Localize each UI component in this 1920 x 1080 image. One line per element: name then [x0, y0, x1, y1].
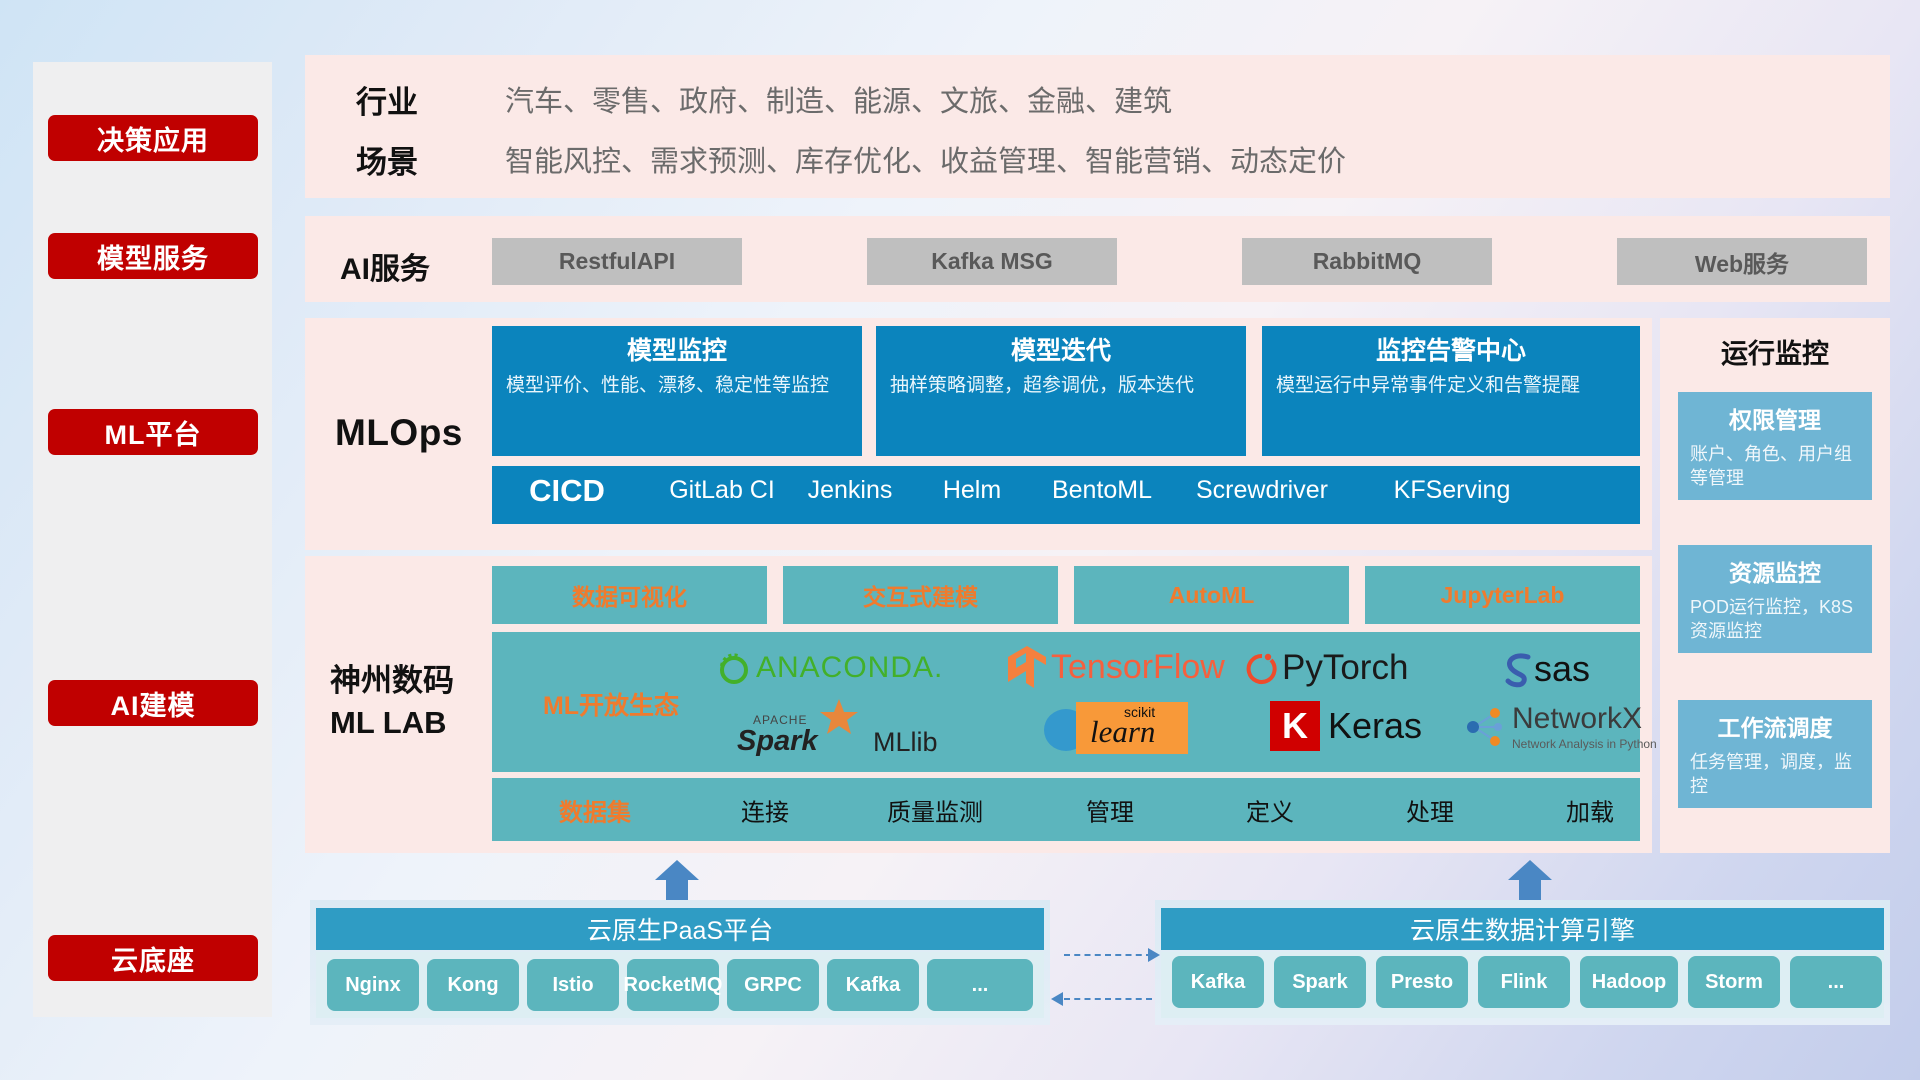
dataset-key-label: 数据集 — [500, 792, 690, 827]
ai-service-item-restfulapi[interactable]: RestfulAPI — [492, 238, 742, 285]
monitoring-title: 运行监控 — [1660, 332, 1890, 371]
networkx-wordmark: NetworkX — [1512, 704, 1657, 734]
networkx-sub-label: Network Analysis in Python — [1512, 737, 1657, 751]
tensorflow-logo: TensorFlow — [1006, 644, 1225, 690]
pytorch-logo: PyTorch — [1245, 646, 1408, 690]
monitoring-box-desc: 账户、角色、用户组等管理 — [1690, 442, 1860, 491]
connector-line-right — [1064, 954, 1152, 956]
monitoring-box-permissions[interactable]: 权限管理 账户、角色、用户组等管理 — [1678, 392, 1872, 500]
mlops-card-desc: 抽样策略调整，超参调优，版本迭代 — [890, 373, 1232, 399]
paas-chip-nginx[interactable]: Nginx — [327, 959, 419, 1011]
dataset-item-loading[interactable]: 加载 — [1510, 792, 1670, 827]
engine-chip-kafka[interactable]: Kafka — [1172, 956, 1264, 1008]
engine-chip-more[interactable]: ... — [1790, 956, 1882, 1008]
ml-ecosystem-label: ML开放生态 — [521, 686, 701, 722]
cicd-tool-kfserving[interactable]: KFServing — [1372, 476, 1532, 505]
pytorch-wordmark: PyTorch — [1282, 648, 1408, 688]
scikit-bottom-label: learn — [1090, 714, 1155, 750]
cicd-tool-screwdriver[interactable]: Screwdriver — [1182, 476, 1342, 505]
monitoring-box-title: 资源监控 — [1690, 554, 1860, 588]
networkx-graph-icon — [1464, 704, 1508, 750]
dataset-item-definition[interactable]: 定义 — [1190, 792, 1350, 827]
ai-service-item-kafka-msg[interactable]: Kafka MSG — [867, 238, 1117, 285]
keras-mark-icon: K — [1270, 701, 1320, 751]
sas-wordmark: sas — [1534, 648, 1590, 690]
mlops-card-model-monitoring[interactable]: 模型监控 模型评价、性能、漂移、稳定性等监控 — [492, 326, 862, 456]
mlops-card-model-iteration[interactable]: 模型迭代 抽样策略调整，超参调优，版本迭代 — [876, 326, 1246, 456]
sas-icon — [1500, 650, 1536, 688]
connector-arrow-right — [1148, 948, 1160, 962]
keras-logo: K Keras — [1270, 700, 1422, 752]
keras-wordmark: Keras — [1328, 705, 1422, 747]
ai-service-item-rabbitmq[interactable]: RabbitMQ — [1242, 238, 1492, 285]
paas-chip-more[interactable]: ... — [927, 959, 1033, 1011]
paas-chip-kafka[interactable]: Kafka — [827, 959, 919, 1011]
ml-lab-tile-jupyterlab[interactable]: JupyterLab — [1365, 566, 1640, 624]
diagram-canvas: 决策应用 模型服务 ML平台 AI建模 云底座 行业 汽车、零售、政府、制造、能… — [0, 0, 1920, 1080]
keras-mark-letter: K — [1282, 705, 1308, 747]
mlops-card-title: 监控告警中心 — [1276, 336, 1626, 367]
cicd-lead-label: CICD — [492, 473, 642, 509]
rail-pill-ai-modeling[interactable]: AI建模 — [48, 680, 258, 726]
spark-logo: APACHE Spark — [737, 705, 867, 760]
mlops-card-title: 模型监控 — [506, 336, 848, 367]
paas-platform-title: 云原生PaaS平台 — [316, 908, 1044, 950]
mlops-label: MLOps — [335, 412, 463, 454]
mlops-card-desc: 模型运行中异常事件定义和告警提醒 — [1276, 373, 1626, 399]
dataset-item-quality-monitoring[interactable]: 质量监测 — [840, 792, 1030, 827]
ml-lab-tile-interactive-modeling[interactable]: 交互式建模 — [783, 566, 1058, 624]
rail-pill-ml-platform[interactable]: ML平台 — [48, 409, 258, 455]
connector-line-left — [1064, 998, 1152, 1000]
networkx-logo: NetworkX Network Analysis in Python — [1464, 702, 1657, 752]
cicd-bar: CICD GitLab CI Jenkins Helm BentoML Scre… — [492, 466, 1640, 524]
decision-row-label-scenario: 场景 — [356, 137, 418, 182]
dataset-item-processing[interactable]: 处理 — [1350, 792, 1510, 827]
monitoring-box-title: 工作流调度 — [1690, 709, 1860, 743]
paas-chip-kong[interactable]: Kong — [427, 959, 519, 1011]
engine-chip-spark[interactable]: Spark — [1274, 956, 1366, 1008]
mlops-card-desc: 模型评价、性能、漂移、稳定性等监控 — [506, 373, 848, 399]
mllib-wordmark: MLlib — [873, 727, 938, 758]
ai-service-item-web-service[interactable]: Web服务 — [1617, 238, 1867, 285]
dataset-band: 数据集 连接 质量监测 管理 定义 处理 加载 — [492, 778, 1640, 841]
paas-chip-grpc[interactable]: GRPC — [727, 959, 819, 1011]
networkx-text-block: NetworkX Network Analysis in Python — [1512, 704, 1657, 751]
monitoring-box-desc: 任务管理，调度，监控 — [1690, 750, 1860, 799]
spark-wordmark: Spark — [737, 725, 818, 758]
mlops-card-title: 模型迭代 — [890, 336, 1232, 367]
paas-chip-rocketmq[interactable]: RocketMQ — [627, 959, 719, 1011]
monitoring-box-desc: POD运行监控，K8S资源监控 — [1690, 595, 1860, 644]
ml-lab-label-line1: 神州数码 — [330, 660, 480, 702]
mlops-card-alert-center[interactable]: 监控告警中心 模型运行中异常事件定义和告警提醒 — [1262, 326, 1640, 456]
monitoring-box-resources[interactable]: 资源监控 POD运行监控，K8S资源监控 — [1678, 545, 1872, 653]
anaconda-wordmark: ANACONDA. — [756, 651, 943, 685]
spark-mllib-logo: APACHE Spark MLlib — [737, 705, 938, 760]
engine-chip-hadoop[interactable]: Hadoop — [1580, 956, 1678, 1008]
cicd-tool-jenkins[interactable]: Jenkins — [802, 476, 898, 505]
ml-lab-tile-data-visualization[interactable]: 数据可视化 — [492, 566, 767, 624]
anaconda-logo: ANACONDA. — [716, 648, 943, 688]
cicd-tool-helm[interactable]: Helm — [902, 476, 1042, 505]
paas-chip-istio[interactable]: Istio — [527, 959, 619, 1011]
spark-star-icon — [817, 697, 861, 739]
cicd-tool-bentoml[interactable]: BentoML — [1037, 476, 1167, 505]
scikit-learn-logo: scikit learn — [1042, 700, 1188, 756]
connector-arrow-left — [1051, 992, 1063, 1006]
engine-chip-storm[interactable]: Storm — [1688, 956, 1780, 1008]
cicd-tool-gitlab-ci[interactable]: GitLab CI — [642, 476, 802, 505]
data-engine-title: 云原生数据计算引擎 — [1161, 908, 1884, 950]
ml-lab-label: 神州数码 ML LAB — [330, 660, 480, 744]
engine-chip-flink[interactable]: Flink — [1478, 956, 1570, 1008]
tensorflow-wordmark: TensorFlow — [1051, 648, 1225, 687]
anaconda-icon — [716, 650, 752, 686]
pytorch-icon — [1245, 648, 1279, 688]
ml-lab-tile-automl[interactable]: AutoML — [1074, 566, 1349, 624]
ai-service-label: AI服务 — [340, 244, 430, 288]
engine-chip-presto[interactable]: Presto — [1376, 956, 1468, 1008]
ml-lab-label-line2: ML LAB — [330, 702, 480, 744]
decision-row-value-scenario: 智能风控、需求预测、库存优化、收益管理、智能营销、动态定价 — [505, 138, 1346, 180]
left-rail — [33, 62, 272, 1017]
decision-row-label-industry: 行业 — [356, 77, 418, 122]
rail-pill-decision[interactable]: 决策应用 — [48, 115, 258, 161]
rail-pill-model-service[interactable]: 模型服务 — [48, 233, 258, 279]
dataset-item-connect[interactable]: 连接 — [690, 792, 840, 827]
tensorflow-icon — [1006, 644, 1048, 690]
monitoring-box-title: 权限管理 — [1690, 401, 1860, 435]
monitoring-box-workflow[interactable]: 工作流调度 任务管理，调度，监控 — [1678, 700, 1872, 808]
scikit-orange-block: scikit learn — [1076, 702, 1188, 754]
rail-pill-cloud-base[interactable]: 云底座 — [48, 935, 258, 981]
sas-logo: sas — [1500, 648, 1590, 690]
dataset-item-management[interactable]: 管理 — [1030, 792, 1190, 827]
decision-row-value-industry: 汽车、零售、政府、制造、能源、文旅、金融、建筑 — [505, 78, 1172, 120]
